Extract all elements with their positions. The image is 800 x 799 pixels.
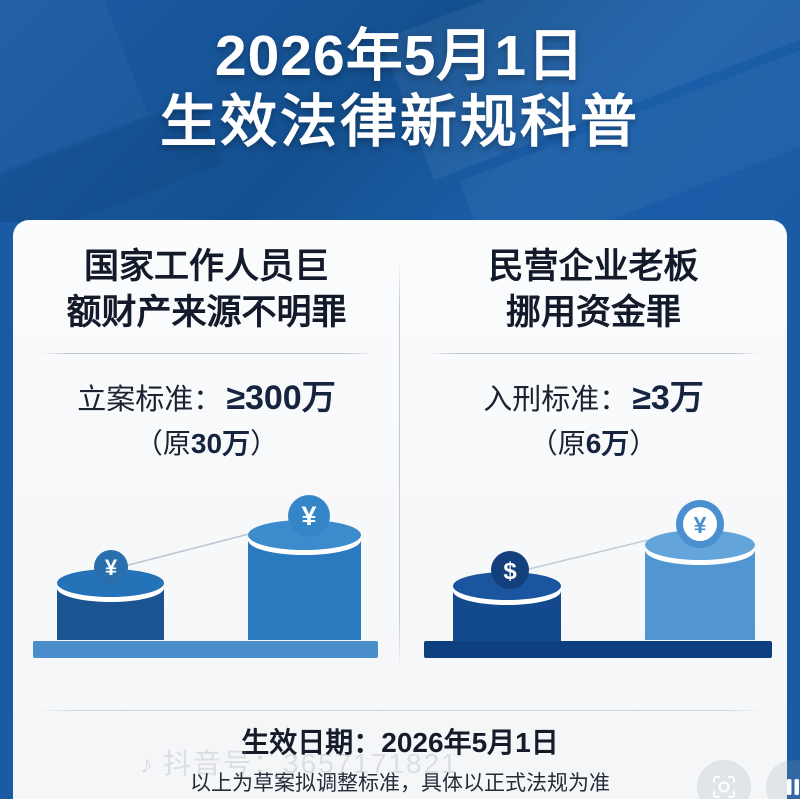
large-coin-symbol-right: ¥	[694, 512, 707, 538]
content-card: 国家工作人员巨 额财产来源不明罪 立案标准：≥300万 （原30万）	[13, 220, 787, 799]
standard-row-left: 立案标准：≥300万	[13, 380, 400, 417]
column-divider	[399, 256, 400, 668]
poster: 2026年5月1日 生效法律新规科普 国家工作人员巨 额财产来源不明罪 立案标准…	[0, 0, 800, 799]
crime-title-left: 国家工作人员巨 额财产来源不明罪	[13, 244, 400, 335]
scan-icon	[710, 773, 738, 799]
illustration-left: ¥ ¥	[13, 488, 400, 668]
footer: 生效日期：2026年5月1日 以上为草案拟调整标准，具体以正式法规为准	[13, 726, 787, 796]
effective-date: 生效日期：2026年5月1日	[13, 726, 787, 760]
small-money-stack-left: ¥	[57, 550, 164, 640]
pause-icon	[781, 775, 800, 799]
standard-label-right: 入刑标准：	[483, 384, 628, 416]
small-coin-symbol-right: $	[503, 558, 517, 585]
comparison-columns: 国家工作人员巨 额财产来源不明罪 立案标准：≥300万 （原30万）	[13, 220, 787, 680]
connector-line	[525, 540, 648, 570]
standard-label-left: 立案标准：	[77, 384, 222, 416]
crime-title-right-line1: 民营企业老板	[400, 244, 787, 290]
previous-suffix-left: ）	[250, 428, 278, 459]
divider-left	[41, 353, 373, 354]
previous-standard-right: （原6万）	[400, 429, 787, 460]
large-coin-symbol-left: ¥	[301, 501, 316, 531]
header-title: 2026年5月1日 生效法律新规科普	[0, 26, 800, 153]
illustration-right: ¥ $	[400, 488, 787, 668]
header-title-line2: 生效法律新规科普	[0, 92, 800, 152]
previous-prefix-left: （原	[135, 428, 191, 459]
disclaimer: 以上为草案拟调整标准，具体以正式法规为准	[13, 771, 787, 796]
small-coin-symbol-left: ¥	[105, 555, 118, 580]
large-money-stack-left: ¥	[248, 495, 361, 640]
previous-suffix-right: ）	[629, 428, 657, 459]
divider-right	[428, 353, 760, 354]
connector-line	[125, 534, 249, 566]
footer-divider	[37, 710, 763, 711]
standard-value-right: ≥3万	[632, 379, 704, 417]
previous-value-right: 6万	[586, 428, 630, 459]
previous-standard-left: （原30万）	[13, 429, 400, 460]
standard-value-left: ≥300万	[226, 379, 335, 417]
previous-prefix-right: （原	[530, 428, 586, 459]
crime-title-right-line2: 挪用资金罪	[400, 290, 787, 336]
standard-row-right: 入刑标准：≥3万	[400, 380, 787, 417]
crime-title-right: 民营企业老板 挪用资金罪	[400, 244, 787, 335]
base-bar-left	[33, 641, 378, 658]
header-title-line1: 2026年5月1日	[0, 26, 800, 86]
crime-column-right: 民营企业老板 挪用资金罪 入刑标准：≥3万 （原6万）	[400, 220, 787, 680]
base-bar-right	[424, 641, 772, 658]
large-money-stack-right: ¥	[645, 500, 755, 640]
crime-title-left-line1: 国家工作人员巨	[13, 244, 400, 290]
previous-value-left: 30万	[191, 428, 250, 459]
crime-column-left: 国家工作人员巨 额财产来源不明罪 立案标准：≥300万 （原30万）	[13, 220, 400, 680]
crime-title-left-line2: 额财产来源不明罪	[13, 290, 400, 336]
header-banner: 2026年5月1日 生效法律新规科普	[0, 0, 800, 222]
